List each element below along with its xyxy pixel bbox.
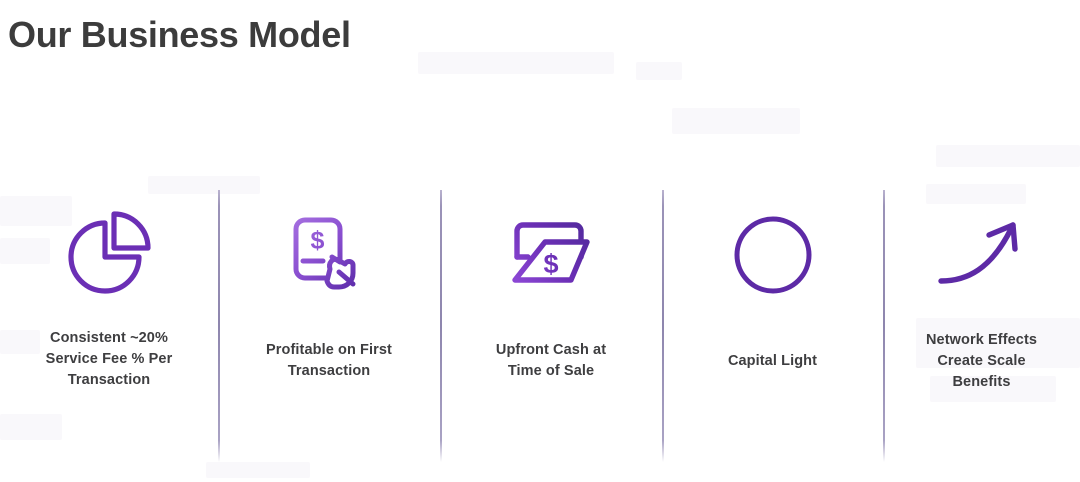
circle-outline-icon (733, 215, 813, 295)
pillar-upfront-cash[interactable]: $ Upfront Cash at Time of Sale (440, 190, 662, 465)
pillar-label: Upfront Cash at Time of Sale (451, 340, 651, 382)
pie-chart-exploded-icon (57, 209, 161, 301)
business-model-pillars: Consistent ~20% Service Fee % Per Transa… (0, 190, 1080, 465)
pillar-profitable-first-transaction[interactable]: $ Profitable on First Transaction (218, 190, 440, 465)
receipt-dollar-hand-icon: $ (287, 213, 371, 297)
pie-chart-exploded-icon-box (57, 190, 161, 320)
pillar-label: Profitable on First Transaction (229, 340, 429, 382)
svg-text:$: $ (311, 227, 325, 255)
page-title: Our Business Model (8, 12, 351, 58)
background-artifact (672, 108, 800, 134)
growth-arrow-up-icon-box (935, 190, 1029, 320)
svg-text:$: $ (543, 249, 558, 279)
background-artifact (418, 52, 614, 74)
pillar-capital-light[interactable]: Capital Light (662, 190, 883, 465)
circle-outline-icon-box (733, 190, 813, 320)
pillar-label: Consistent ~20% Service Fee % Per Transa… (14, 328, 204, 391)
receipt-dollar-hand-icon-box: $ (287, 190, 371, 320)
pillar-label: Network Effects Create Scale Benefits (887, 330, 1077, 393)
pillar-consistent-service-fee[interactable]: Consistent ~20% Service Fee % Per Transa… (0, 190, 218, 465)
growth-arrow-up-icon (935, 213, 1029, 297)
atm-cash-dispense-icon-box: $ (501, 190, 601, 320)
pillar-label: Capital Light (673, 351, 873, 372)
pillar-network-effects[interactable]: Network Effects Create Scale Benefits (883, 190, 1080, 465)
background-artifact (636, 62, 682, 80)
column-divider (883, 190, 885, 462)
atm-cash-dispense-icon: $ (501, 217, 601, 293)
background-artifact (936, 145, 1080, 167)
column-divider (440, 190, 442, 462)
column-divider (662, 190, 664, 462)
column-divider (218, 190, 220, 462)
